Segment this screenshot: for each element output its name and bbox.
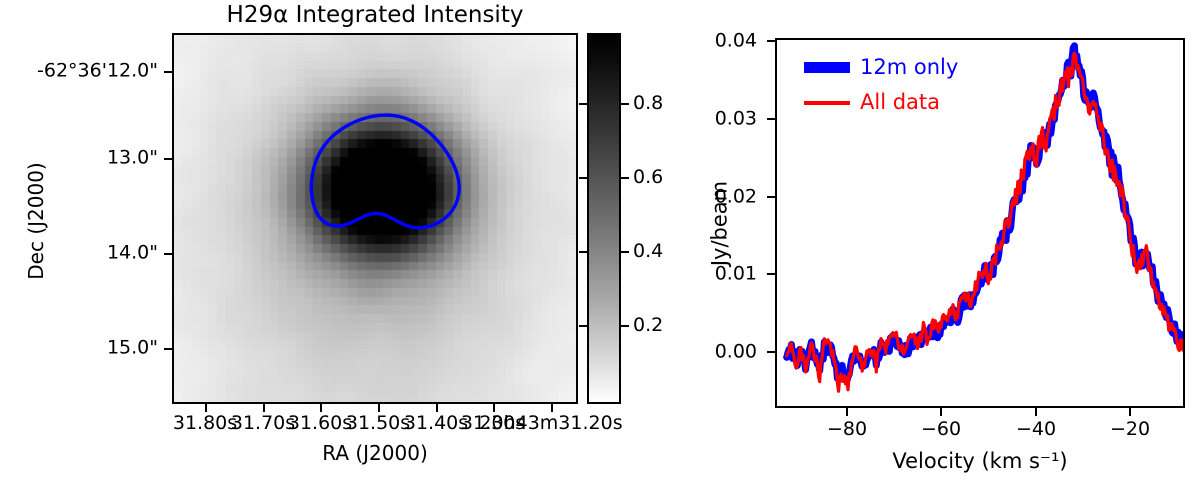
- map-ytick-1: [164, 158, 172, 160]
- map-xtick-4: [436, 404, 438, 412]
- map-ytick-label-3: 15.0": [107, 339, 158, 358]
- legend-swatch-all-data: [804, 101, 850, 105]
- colorbar-tick-inner-0: [579, 103, 587, 105]
- spectrum-xtick-0: [846, 408, 848, 416]
- colorbar-tick-1: [621, 177, 629, 179]
- colorbar-tick-inner-2: [579, 251, 587, 253]
- map-panel-title: H29α Integrated Intensity: [172, 4, 578, 27]
- legend-swatch-12m-only: [804, 62, 850, 73]
- map-xtick-2: [320, 404, 322, 412]
- spectrum-xaxis-title: Velocity (km s⁻¹): [892, 451, 1067, 472]
- legend-label-12m-only: 12m only: [860, 57, 958, 78]
- spectrum-ytick-label-4: 0.00: [715, 343, 757, 362]
- colorbar-tick-inner-3: [579, 325, 587, 327]
- map-xtick-label-2: 31.60s: [288, 414, 352, 433]
- colorbar-label-1: 0.6: [633, 168, 663, 187]
- map-ytick-label-1: 13.0": [107, 149, 158, 168]
- colorbar: [587, 33, 621, 404]
- spectrum-xtick-3: [1129, 408, 1131, 416]
- colorbar-tick-0: [621, 103, 629, 105]
- map-yaxis-title: Dec (J2000): [26, 141, 46, 301]
- map-xtick-label-4: 31.40s: [404, 414, 468, 433]
- map-xtick-label-0: 31.80s: [173, 414, 237, 433]
- colorbar-tick-3: [621, 325, 629, 327]
- spectrum-xtick-label-1: −60: [921, 420, 961, 439]
- map-xtick-3: [378, 404, 380, 412]
- map-xtick-label-1: 31.70s: [231, 414, 295, 433]
- colorbar-label-0: 0.8: [633, 94, 663, 113]
- contour-overlay: [174, 35, 576, 402]
- map-ytick-label-2: 14.0": [107, 244, 158, 263]
- map-xtick-0: [205, 404, 207, 412]
- spectrum-ytick-label-0: 0.04: [715, 32, 757, 51]
- map-xaxis-title: RA (J2000): [322, 443, 428, 463]
- spectrum-ytick-0: [767, 40, 775, 42]
- map-xtick-6: [551, 404, 553, 412]
- map-ytick-3: [164, 348, 172, 350]
- map-xtick-label-6: 20h43m31.20s: [479, 414, 622, 433]
- map-ytick-2: [164, 253, 172, 255]
- map-ytick-0: [164, 71, 172, 73]
- legend-label-all-data: All data: [860, 92, 940, 113]
- colorbar-label-3: 0.2: [633, 316, 663, 335]
- spectrum-xtick-1: [940, 408, 942, 416]
- spectrum-ytick-4: [767, 351, 775, 353]
- spectrum-xtick-label-0: −80: [827, 420, 867, 439]
- spectrum-xtick-label-2: −40: [1016, 420, 1056, 439]
- spectrum-ytick-label-1: 0.03: [715, 110, 757, 129]
- colorbar-tick-inner-1: [579, 177, 587, 179]
- spectrum-ytick-3: [767, 273, 775, 275]
- map-ytick-label-0: -62°36'12.0": [37, 62, 158, 81]
- spectrum-plot: [775, 38, 1185, 408]
- map-xtick-5: [493, 404, 495, 412]
- spectrum-lines: [777, 40, 1183, 406]
- map-xtick-1: [263, 404, 265, 412]
- spectrum-xtick-2: [1035, 408, 1037, 416]
- spectrum-xtick-label-3: −20: [1110, 420, 1150, 439]
- spectrum-ytick-2: [767, 196, 775, 198]
- blue-contour-line: [311, 115, 459, 228]
- figure-canvas: H29α Integrated Intensity -62°36'12.0" 1…: [0, 0, 1200, 489]
- colorbar-tick-2: [621, 251, 629, 253]
- spectrum-ytick-1: [767, 118, 775, 120]
- colorbar-label-2: 0.4: [633, 242, 663, 261]
- map-xtick-label-3: 31.50s: [346, 414, 410, 433]
- spectrum-yaxis-title: Jy/beam: [710, 144, 731, 304]
- integrated-intensity-map: [172, 33, 578, 404]
